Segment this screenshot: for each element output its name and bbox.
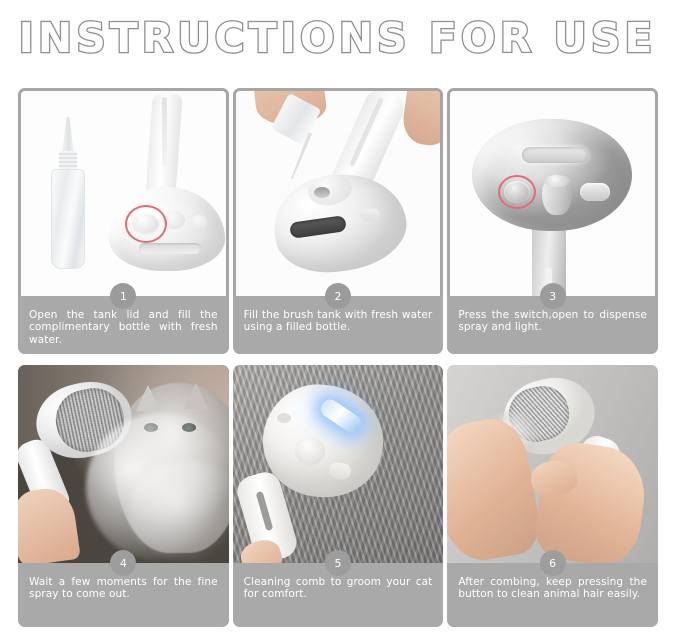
step-caption-3: 3 Press the switch,open to dispense spra… (447, 296, 658, 354)
step-badge-3: 3 (540, 283, 566, 309)
head-marking (277, 413, 291, 423)
step-caption-5: 5 Cleaning comb to groom your cat for co… (233, 563, 444, 627)
scene-filling-tank-with-bottle (236, 91, 441, 296)
step-badge-5: 5 (325, 550, 351, 576)
side-button (580, 183, 610, 201)
step-panel-5: 5 Cleaning comb to groom your cat for co… (233, 365, 444, 627)
step-badge-2: 2 (325, 283, 351, 309)
side-button (191, 215, 207, 228)
page-title: INSTRUCTIONS FOR USE (19, 18, 657, 59)
scene-brush-head-switch-closeup (450, 91, 655, 296)
step-image-4 (18, 365, 229, 563)
title-container: INSTRUCTIONS FOR USE (0, 8, 675, 68)
step-caption-1: 1 Open the tank lid and fill the complim… (18, 296, 229, 354)
step-caption-4: 4 Wait a few moments for the fine spray … (18, 563, 229, 627)
step-image-5 (233, 365, 444, 563)
step-panel-6: 6 After combing, keep pressing the butto… (447, 365, 658, 627)
steps-grid: 1 Open the tank lid and fill the complim… (18, 88, 658, 627)
highlight-ring-icon (125, 205, 167, 243)
step-panel-3: 3 Press the switch,open to dispense spra… (447, 88, 658, 354)
step-badge-6: 6 (540, 550, 566, 576)
vent-slot (522, 147, 588, 163)
step-caption-text-3: Press the switch,open to dispense spray … (458, 309, 647, 334)
step-image-2 (233, 88, 444, 296)
step-caption-text-5: Cleaning comb to groom your cat for comf… (244, 576, 433, 601)
step-image-6 (447, 365, 658, 563)
complimentary-bottle (51, 169, 85, 269)
step-caption-2: 2 Fill the brush tank with fresh water u… (233, 296, 444, 354)
step-caption-6: 6 After combing, keep pressing the butto… (447, 563, 658, 627)
tank-opening (314, 187, 330, 198)
step-image-3 (447, 88, 658, 296)
handle-slot (162, 97, 167, 167)
instructions-infographic: INSTRUCTIONS FOR USE (0, 0, 675, 639)
scene-spraying-mist-near-cat (18, 365, 229, 563)
step-caption-text-2: Fill the brush tank with fresh water usi… (244, 309, 433, 334)
step-badge-1: 1 (110, 283, 136, 309)
step-caption-text-4: Wait a few moments for the fine spray to… (29, 576, 218, 601)
step-panel-1: 1 Open the tank lid and fill the complim… (18, 88, 229, 354)
step-caption-text-1: Open the tank lid and fill the complimen… (29, 309, 218, 346)
step-panel-4: 4 Wait a few moments for the fine spray … (18, 365, 229, 627)
scene-removing-hair-from-pad (447, 365, 658, 563)
step-caption-text-6: After combing, keep pressing the button … (458, 576, 647, 601)
vent-slot (139, 243, 201, 254)
step-panel-2: 2 Fill the brush tank with fresh water u… (233, 88, 444, 354)
scene-bottle-and-brush-base (21, 91, 226, 296)
step-image-1 (18, 88, 229, 296)
step-badge-4: 4 (110, 550, 136, 576)
scene-grooming-cat-with-led-on (233, 365, 444, 563)
